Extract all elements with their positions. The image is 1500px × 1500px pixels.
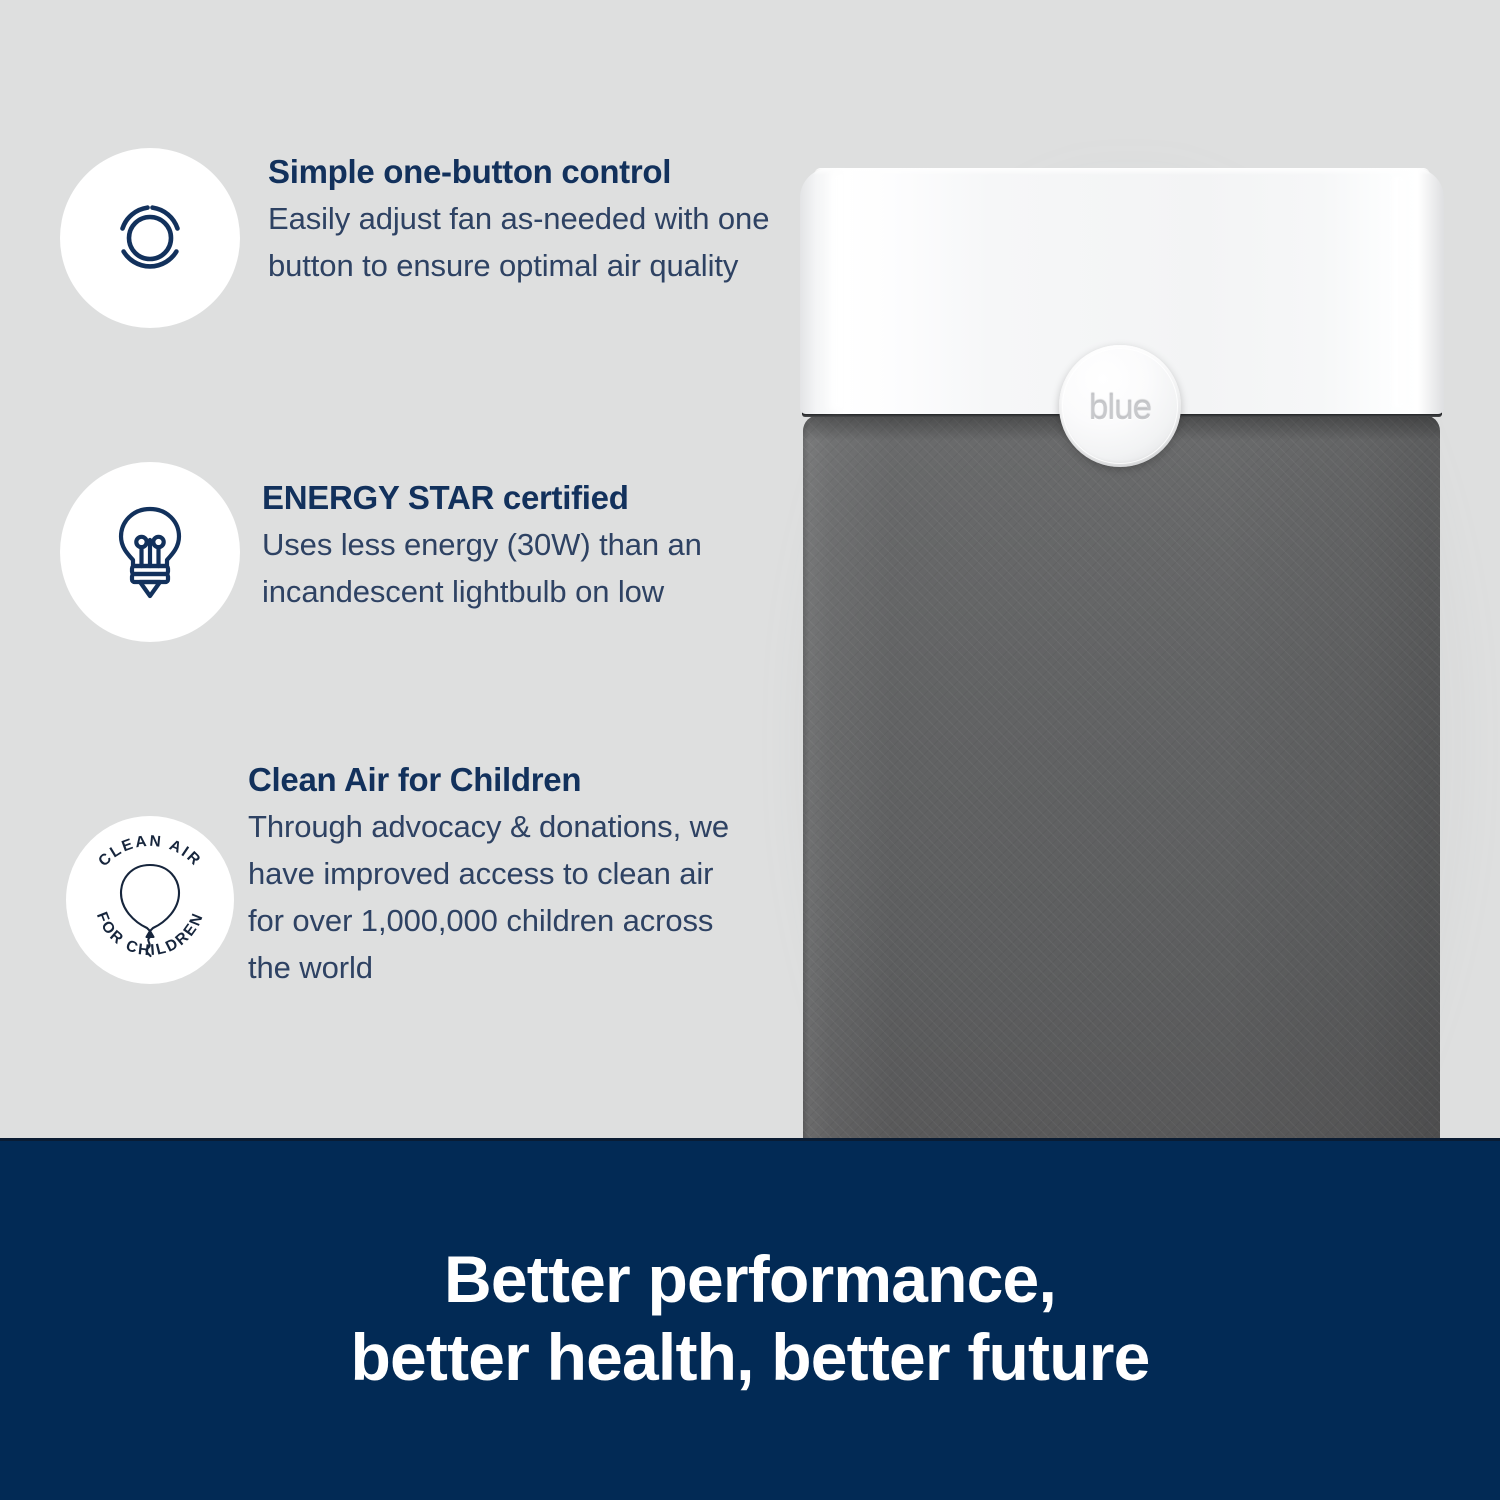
feature-title: Simple one-button control bbox=[268, 154, 788, 191]
tagline-banner: Better performance, better health, bette… bbox=[0, 1138, 1500, 1500]
feature-icon-badge bbox=[60, 148, 240, 328]
feature-text-block: Clean Air for Children Through advocacy … bbox=[248, 762, 748, 991]
feature-icon-badge: CLEAN AIR FOR CHILDREN bbox=[66, 816, 234, 984]
cap-top-highlight bbox=[814, 168, 1430, 175]
feature-text-block: Simple one-button control Easily adjust … bbox=[268, 148, 788, 289]
feature-title: ENERGY STAR certified bbox=[262, 480, 782, 517]
blue-brand-wordmark: blue bbox=[1089, 388, 1151, 428]
feature-icon-badge bbox=[60, 462, 240, 642]
tagline: Better performance, better health, bette… bbox=[350, 1241, 1149, 1397]
feature-item-one-button-control: Simple one-button control Easily adjust … bbox=[60, 148, 788, 328]
feature-text-block: ENERGY STAR certified Uses less energy (… bbox=[262, 462, 782, 615]
feature-title: Clean Air for Children bbox=[248, 762, 748, 799]
feature-list: Simple one-button control Easily adjust … bbox=[0, 0, 800, 1140]
banner-top-rule bbox=[0, 1138, 1500, 1141]
feature-item-energy-star: ENERGY STAR certified Uses less energy (… bbox=[60, 462, 782, 642]
clean-air-for-children-badge-icon: CLEAN AIR FOR CHILDREN bbox=[71, 821, 229, 979]
power-ring-icon bbox=[111, 199, 189, 277]
tagline-line-1: Better performance, bbox=[350, 1241, 1149, 1319]
product-power-button[interactable]: blue bbox=[1059, 345, 1181, 467]
cap-right-gloss-highlight bbox=[1388, 176, 1410, 408]
fabric-weave-texture bbox=[803, 415, 1440, 1140]
feature-description: Easily adjust fan as-needed with one but… bbox=[268, 195, 788, 289]
product-photo: blue bbox=[740, 0, 1500, 1140]
feature-item-clean-air-for-children: CLEAN AIR FOR CHILDREN Clean Air for Chi… bbox=[60, 762, 748, 991]
feature-description: Uses less energy (30W) than an incandesc… bbox=[262, 521, 782, 615]
marketing-image: blue Simple one-butto bbox=[0, 0, 1500, 1500]
lightbulb-icon bbox=[112, 504, 188, 600]
cap-left-gloss-highlight bbox=[824, 172, 854, 410]
tagline-line-2: better health, better future bbox=[350, 1319, 1149, 1397]
feature-description: Through advocacy & donations, we have im… bbox=[248, 803, 748, 991]
product-prefilter-fabric bbox=[803, 415, 1440, 1140]
